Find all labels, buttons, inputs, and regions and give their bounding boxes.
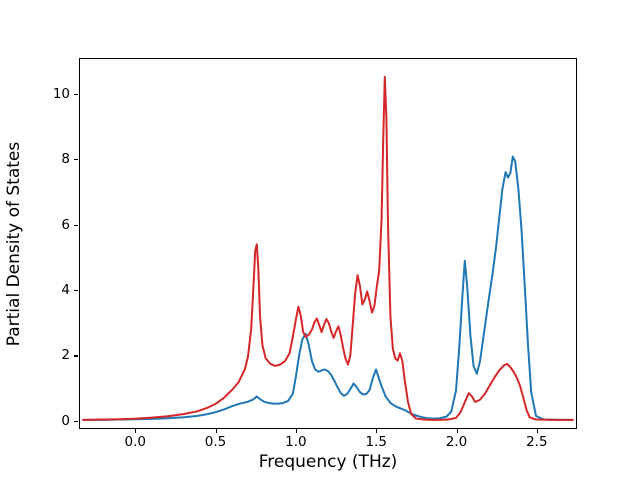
x-tick-mark [216, 429, 217, 433]
curves-svg [80, 59, 576, 428]
series-2-line [83, 77, 573, 420]
y-tick-mark [74, 94, 78, 95]
y-tick-label: 8 [40, 151, 70, 167]
x-tick-label: 2.5 [526, 434, 547, 450]
figure-canvas: 0.00.51.01.52.02.5 0246810 Frequency (TH… [0, 0, 640, 480]
y-tick-label: 6 [40, 217, 70, 233]
series-1-line [83, 157, 573, 420]
x-tick-mark [376, 429, 377, 433]
x-tick-mark [135, 429, 136, 433]
y-tick-mark [74, 159, 78, 160]
y-tick-label: 2 [40, 347, 70, 363]
x-tick-label: 0.0 [124, 434, 145, 450]
y-tick-mark [74, 225, 78, 226]
y-tick-label: 0 [40, 413, 70, 429]
y-tick-mark [74, 421, 78, 422]
x-tick-label: 0.5 [205, 434, 226, 450]
x-tick-mark [537, 429, 538, 433]
x-tick-label: 1.0 [285, 434, 306, 450]
y-tick-label: 10 [40, 86, 70, 102]
x-tick-mark [457, 429, 458, 433]
x-axis-label: Frequency (THz) [259, 452, 398, 472]
y-tick-mark [74, 290, 78, 291]
x-tick-label: 2.0 [446, 434, 467, 450]
plot-axes-area [79, 58, 577, 429]
y-tick-label: 4 [40, 282, 70, 298]
x-tick-label: 1.5 [365, 434, 386, 450]
y-axis-label: Partial Density of States [4, 142, 24, 347]
y-tick-mark [74, 355, 78, 356]
x-tick-mark [296, 429, 297, 433]
